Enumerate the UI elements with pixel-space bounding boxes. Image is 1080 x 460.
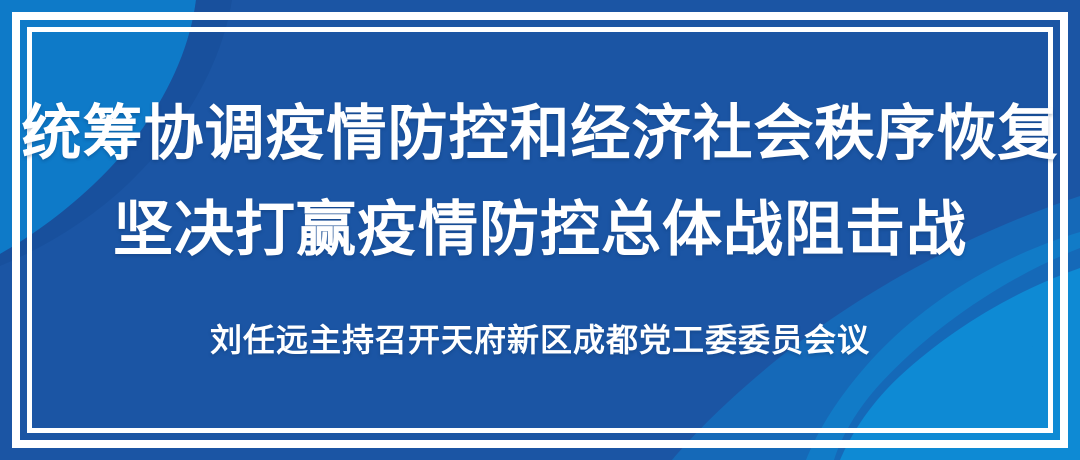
decorative-background-art — [0, 0, 1080, 460]
banner-poster: 统筹协调疫情防控和经济社会秩序恢复 坚决打赢疫情防控总体战阻击战 刘任远主持召开… — [0, 0, 1080, 460]
